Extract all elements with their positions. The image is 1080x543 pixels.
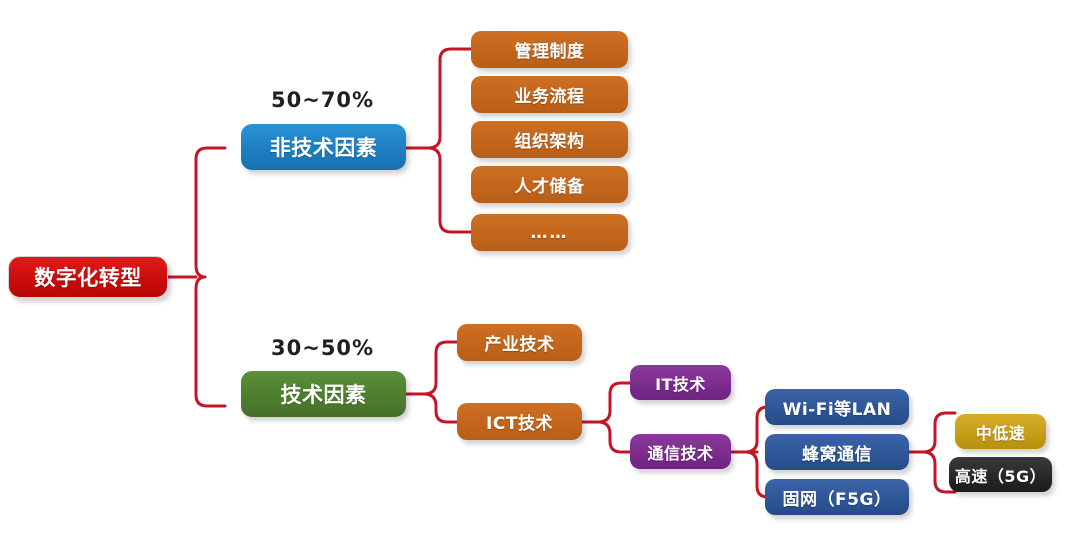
mindmap-canvas: 数字化转型 50~70% 非技术因素 管理制度 业务流程 组织架构 人才储备 …… [0, 0, 1080, 543]
leaf-node-label: 产业技术 [485, 330, 555, 355]
connector-tech-top [406, 342, 457, 394]
connector-ict-bottom [582, 422, 630, 452]
leaf-node-wifi-lan[interactable]: Wi-Fi等LAN [765, 389, 909, 425]
connector-cell-top [909, 413, 955, 452]
leaf-node-cellular-communication[interactable]: 蜂窝通信 [765, 434, 909, 470]
leaf-node-label: 组织架构 [515, 127, 585, 152]
connector-tech-bottom [406, 394, 457, 422]
percent-label-non-tech: 50~70% [271, 88, 374, 112]
leaf-node-label: …… [531, 223, 569, 243]
connector-nontech-bottom [406, 148, 471, 232]
leaf-node-label: 高速（5G） [955, 463, 1046, 487]
leaf-node-ict-technology[interactable]: ICT技术 [457, 403, 582, 440]
leaf-node-high-speed-5g[interactable]: 高速（5G） [949, 457, 1052, 492]
leaf-node-communication-technology[interactable]: 通信技术 [630, 434, 731, 469]
leaf-node-business-process[interactable]: 业务流程 [471, 76, 628, 113]
leaf-node-label: 中低速 [976, 420, 1026, 444]
leaf-node-label: 固网（F5G） [783, 485, 892, 510]
leaf-node-it-technology[interactable]: IT技术 [630, 365, 731, 400]
leaf-node-label: 蜂窝通信 [802, 440, 872, 465]
root-node-label: 数字化转型 [34, 262, 142, 292]
connector-nontech-top [406, 49, 471, 148]
branch-node-label: 非技术因素 [270, 132, 378, 162]
branch-node-non-technical-factors[interactable]: 非技术因素 [241, 124, 406, 170]
leaf-node-label: 管理制度 [515, 37, 585, 62]
branch-node-technical-factors[interactable]: 技术因素 [241, 371, 406, 417]
percent-label-tech: 30~50% [271, 336, 374, 360]
leaf-node-fixed-network-f5g[interactable]: 固网（F5G） [765, 479, 909, 515]
leaf-node-management-system[interactable]: 管理制度 [471, 31, 628, 68]
leaf-node-label: 通信技术 [647, 440, 713, 464]
leaf-node-label: 人才储备 [515, 172, 585, 197]
leaf-node-low-medium-speed[interactable]: 中低速 [955, 414, 1046, 449]
branch-node-label: 技术因素 [281, 379, 367, 409]
leaf-node-ellipsis[interactable]: …… [471, 214, 628, 251]
leaf-node-organization-structure[interactable]: 组织架构 [471, 121, 628, 158]
leaf-node-label: 业务流程 [515, 82, 585, 107]
connector-root-bracket [196, 148, 225, 406]
leaf-node-label: IT技术 [655, 371, 706, 395]
root-node-digital-transformation[interactable]: 数字化转型 [8, 256, 168, 298]
leaf-node-talent-reserve[interactable]: 人才储备 [471, 166, 628, 203]
leaf-node-label: Wi-Fi等LAN [783, 395, 892, 420]
leaf-node-industry-technology[interactable]: 产业技术 [457, 324, 582, 361]
leaf-node-label: ICT技术 [486, 409, 553, 434]
connector-ict-top [582, 383, 630, 422]
